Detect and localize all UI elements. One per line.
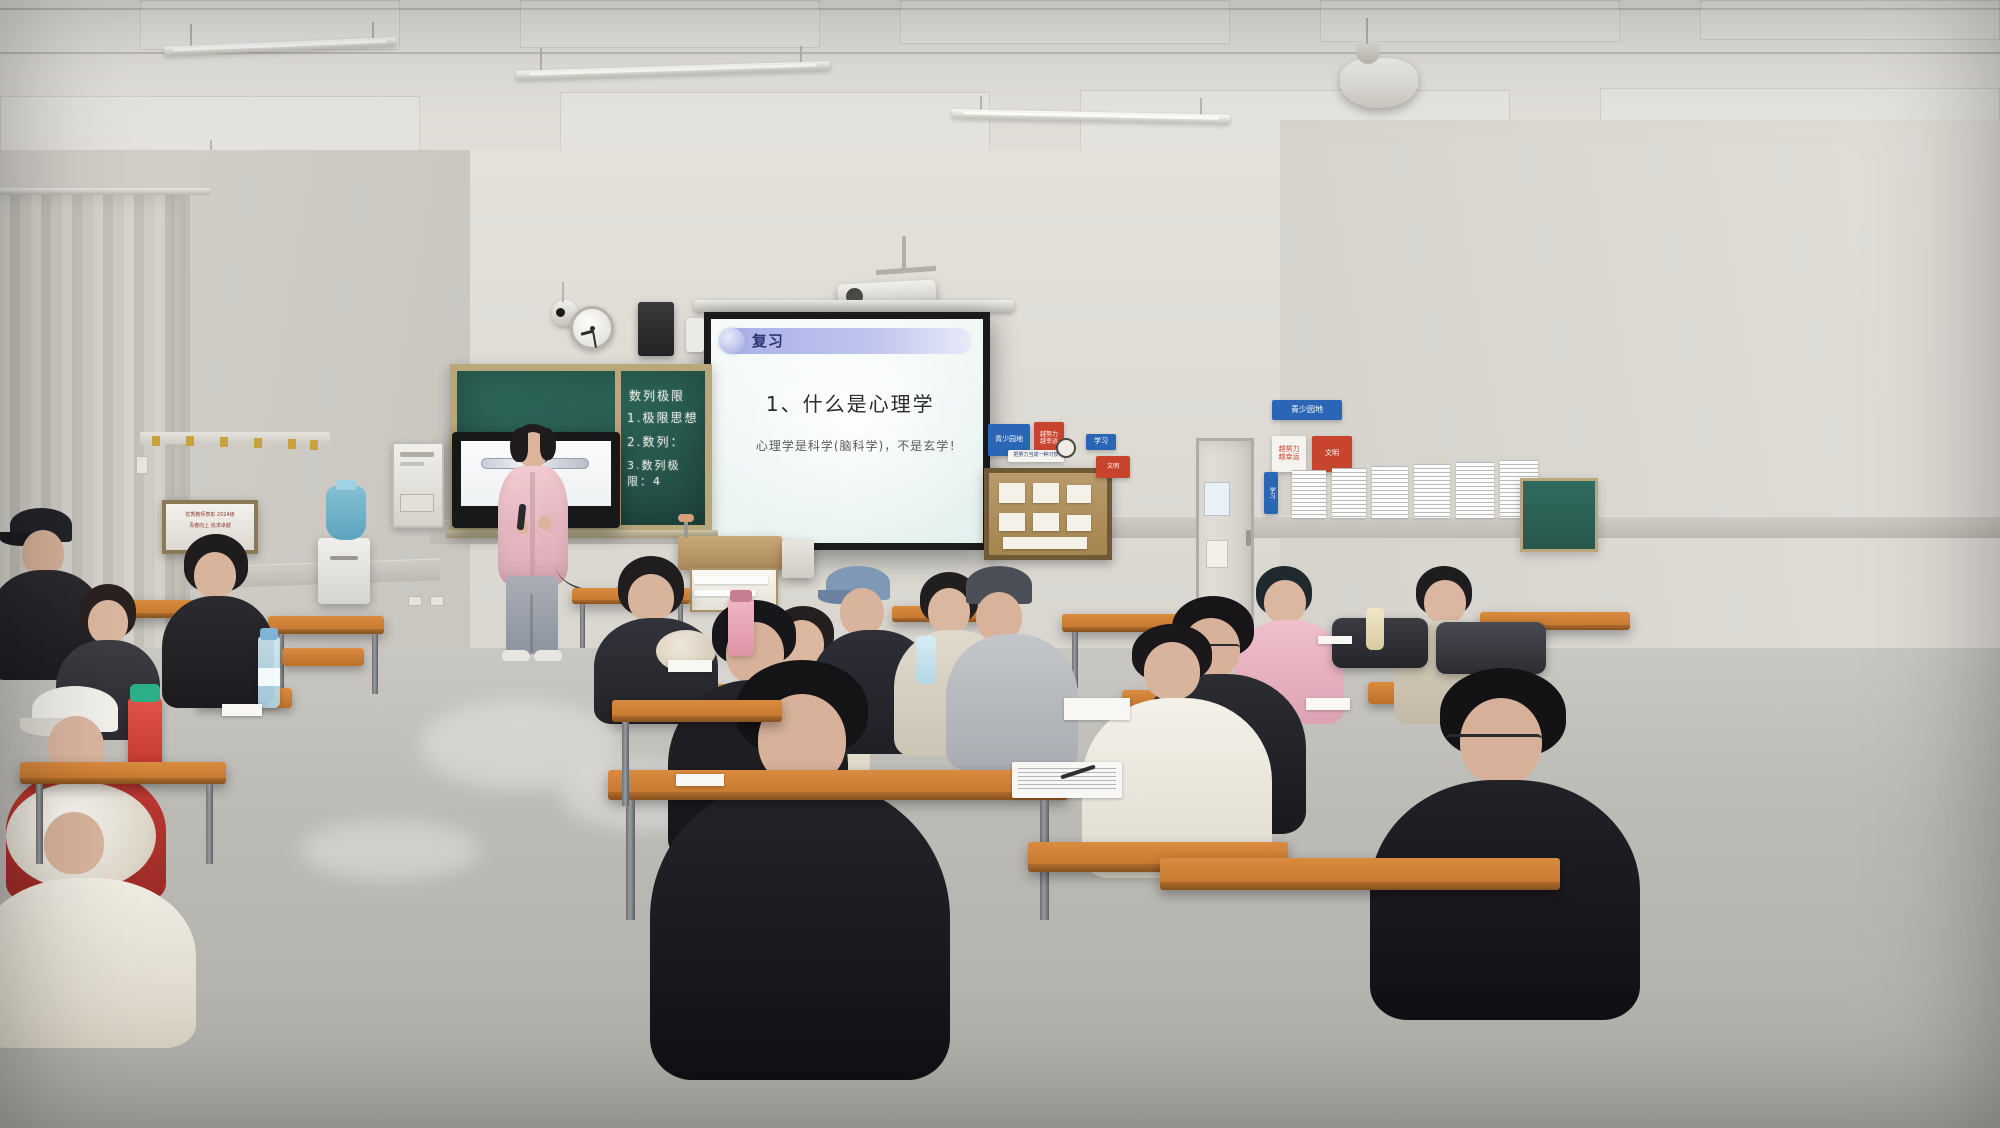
student-desk	[1160, 858, 1560, 890]
chalk-line: 3.数列极限：4	[627, 457, 705, 489]
wall-outlet[interactable]	[430, 596, 444, 606]
wall-poster: 文明	[1096, 456, 1130, 478]
water-jug	[326, 486, 366, 540]
light-hanger	[190, 24, 192, 46]
wall-clock	[570, 306, 614, 350]
desk-paper	[676, 774, 724, 786]
wall-hook-strip	[140, 432, 330, 444]
teacher-shoe	[502, 650, 530, 661]
chair-back	[282, 648, 364, 666]
screen-roller	[694, 300, 1014, 312]
slide-content: 复习 1、什么是心理学 心理学是科学(脑科学)，不是玄学！	[722, 328, 972, 532]
chalk-line: 2.数列：	[627, 433, 684, 450]
desk-paper	[1306, 698, 1350, 710]
chalk-line: 1.极限思想	[627, 409, 698, 426]
wall-poster: 青少园地	[1272, 400, 1342, 420]
teacher-shoe	[534, 650, 562, 661]
award-line-2: 青春向上 追求卓越	[172, 522, 248, 529]
wall-outlet[interactable]	[408, 596, 422, 606]
water-bottle[interactable]	[1366, 608, 1384, 650]
student	[0, 782, 200, 1032]
speaker-switch-plate[interactable]	[686, 318, 704, 352]
classroom-photo: 复习 1、什么是心理学 心理学是科学(脑科学)，不是玄学！ 数列极限 1.极限思…	[0, 0, 2000, 1128]
open-notebook[interactable]	[1064, 698, 1130, 720]
slide-banner: 复习	[722, 328, 972, 354]
clock-minute-hand	[592, 331, 597, 348]
right-whiteboard[interactable]	[1520, 478, 1598, 552]
backpack	[1436, 622, 1546, 674]
slide-banner-label: 复习	[752, 330, 784, 351]
slide-subtitle: 心理学是科学(脑科学)，不是玄学！	[756, 437, 972, 454]
projection-screen: 复习 1、什么是心理学 心理学是科学(脑科学)，不是玄学！	[704, 312, 990, 550]
ceiling-dome-light	[1340, 58, 1418, 108]
curtain-rod	[0, 188, 210, 195]
desk-paper	[1318, 636, 1352, 644]
desk-lamp-stand	[684, 520, 688, 538]
cork-bulletin-board	[984, 468, 1112, 560]
wall-poster: 把努力当成一种习惯	[1008, 450, 1064, 462]
glasses	[1446, 734, 1542, 748]
student	[952, 566, 1074, 762]
wall-poster: 文明	[1312, 436, 1352, 472]
door-notice	[1206, 540, 1228, 568]
podium-side-box	[782, 540, 814, 578]
award-line-1: 优秀教师表彰 2024级	[172, 511, 248, 518]
student-desk	[612, 700, 782, 722]
door-sign	[1204, 482, 1230, 516]
round-wall-emblem	[1056, 438, 1076, 458]
wall-speaker	[638, 302, 674, 356]
student-desk	[20, 762, 226, 784]
projector-mount	[902, 236, 906, 270]
chalk-line: 数列极限	[629, 387, 685, 404]
teacher-hand	[538, 516, 551, 530]
door-side-sign: 学习	[1264, 472, 1278, 514]
desk-paper	[222, 704, 262, 716]
student	[1086, 624, 1266, 874]
student-desk	[268, 616, 384, 634]
door-handle[interactable]	[1246, 530, 1251, 546]
thermos-bottle[interactable]	[728, 598, 754, 656]
wall-poster: 学习	[1086, 434, 1116, 450]
bullet-dot-icon	[719, 328, 745, 354]
slide-heading: 1、什么是心理学	[766, 388, 972, 417]
student	[1380, 668, 1630, 998]
water-dispenser[interactable]	[318, 538, 370, 604]
wall-poster: 越努力 越幸运	[1272, 436, 1306, 472]
light-switch-panel[interactable]	[136, 456, 148, 474]
